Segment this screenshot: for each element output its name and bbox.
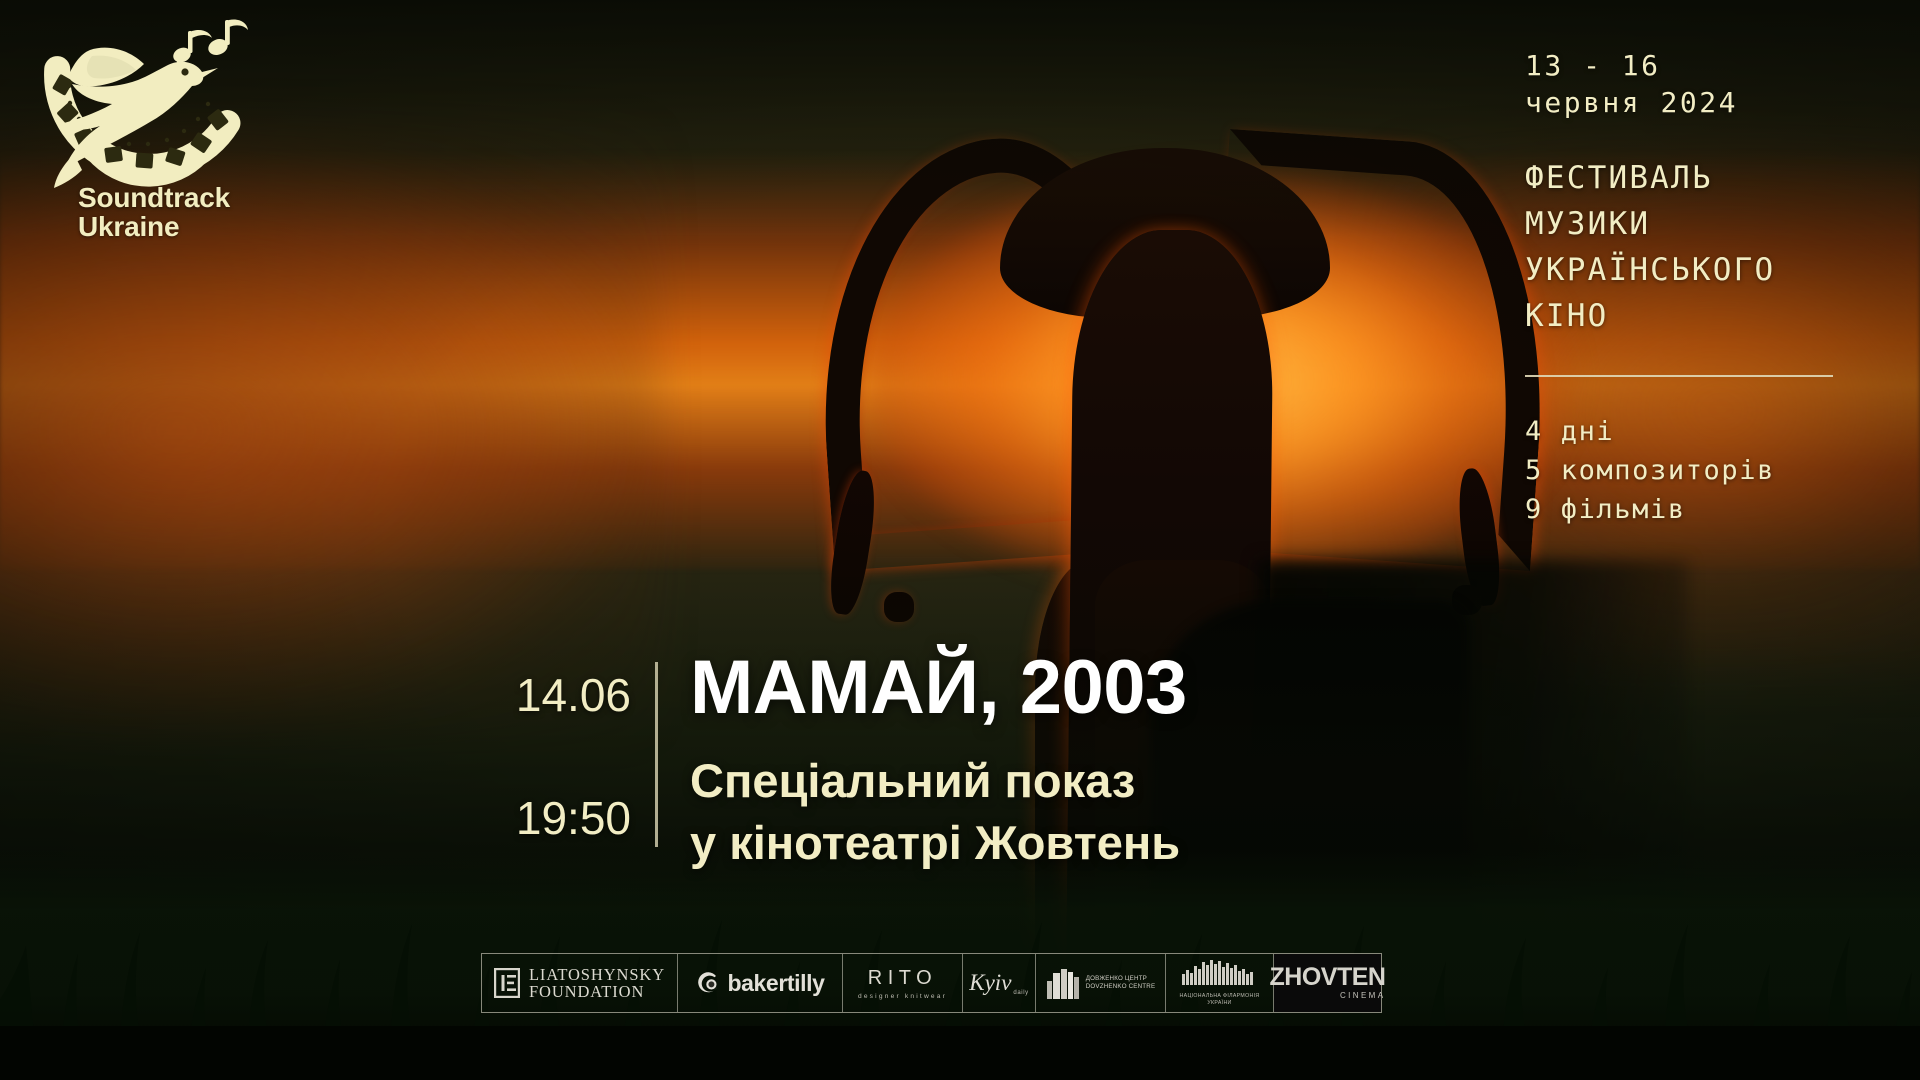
dovzhenko-books-icon <box>1046 966 1080 1000</box>
sponsor-rito-name: RITO <box>858 967 947 990</box>
info-divider <box>1525 375 1833 377</box>
soundtrack-ukraine-logo[interactable]: Soundtrack Ukraine <box>30 14 260 264</box>
date-month-year: червня 2024 <box>1525 85 1895 122</box>
sponsor-philharmonic-line-2: УКРАЇНИ <box>1180 1000 1260 1007</box>
sponsor-liatoshynsky-line-2: FOUNDATION <box>529 983 665 1000</box>
festival-title-line-2: МУЗИКИ <box>1525 202 1895 248</box>
festival-info-block: 13 - 16 червня 2024 ФЕСТИВАЛЬ МУЗИКИ УКР… <box>1525 48 1895 530</box>
stat-films: 9 фільмів <box>1525 491 1895 530</box>
festival-title-line-1: ФЕСТИВАЛЬ <box>1525 156 1895 202</box>
logo-wordmark: Soundtrack Ukraine <box>78 184 278 241</box>
sponsor-rito[interactable]: RITO designer knitwear <box>843 954 963 1012</box>
sponsor-bakertilly-name: bakertilly <box>728 970 825 997</box>
sponsor-dovzhenko-centre[interactable]: ДОВЖЕНКО ЦЕНТР DOVZHENKO CENTRE <box>1036 954 1166 1012</box>
sponsor-liatoshynsky-line-1: LIATOSHYNSKY <box>529 966 665 983</box>
festival-dates: 13 - 16 червня 2024 <box>1525 48 1895 122</box>
sponsor-bakertilly[interactable]: bakertilly <box>678 954 843 1012</box>
screening-what: МАМАЙ, 2003 Спеціальний показ у кінотеат… <box>658 650 1187 874</box>
sponsor-zhovten-name: ZHOVTEN <box>1270 966 1386 990</box>
liatoshynsky-monogram-icon <box>494 968 520 998</box>
sponsor-bar: LIATOSHYNSKY FOUNDATION bakertilly RITO … <box>481 953 1382 1013</box>
date-range: 13 - 16 <box>1525 48 1895 85</box>
film-subtitle-line-2: у кінотеатрі Жовтень <box>690 812 1187 874</box>
sponsor-zhovten-cinema[interactable]: ZHOVTEN CINEMA <box>1274 954 1381 1012</box>
film-title: МАМАЙ, 2003 <box>690 650 1187 726</box>
sponsor-rito-tagline: designer knitwear <box>858 993 947 1000</box>
festival-stats: 4 дні 5 композиторів 9 фільмів <box>1525 413 1895 530</box>
sponsor-dovzhenko-name-en: DOVZHENKO CENTRE <box>1086 983 1156 991</box>
screening-time: 19:50 <box>470 795 631 841</box>
festival-title-line-4: КІНО <box>1525 294 1895 340</box>
screening-when: 14.06 19:50 <box>470 650 655 874</box>
sponsor-national-philharmonic[interactable]: НАЦІОНАЛЬНА ФІЛАРМОНІЯ УКРАЇНИ <box>1166 954 1274 1012</box>
screening-block: 14.06 19:50 МАМАЙ, 2003 Спеціальний пока… <box>470 650 1187 874</box>
sponsor-zhovten-tagline: CINEMA <box>1270 991 1386 1000</box>
stat-days: 4 дні <box>1525 413 1895 452</box>
film-subtitle: Спеціальний показ у кінотеатрі Жовтень <box>690 750 1187 874</box>
festival-title: ФЕСТИВАЛЬ МУЗИКИ УКРАЇНСЬКОГО КІНО <box>1525 156 1895 340</box>
sponsor-philharmonic-line-1: НАЦІОНАЛЬНА ФІЛАРМОНІЯ <box>1180 993 1260 1000</box>
sponsor-liatoshynsky-foundation[interactable]: LIATOSHYNSKY FOUNDATION <box>482 954 678 1012</box>
festival-poster: Soundtrack Ukraine 13 - 16 червня 2024 Ф… <box>0 0 1920 1080</box>
logo-line-1: Soundtrack <box>78 182 230 213</box>
sponsor-kyiv-tagline: daily <box>1013 990 1028 996</box>
sponsor-dovzhenko-name-uk: ДОВЖЕНКО ЦЕНТР <box>1086 975 1156 983</box>
logo-line-2: Ukraine <box>78 211 179 242</box>
sponsor-kyiv-name: Kyiv <box>969 970 1011 996</box>
bakertilly-spiral-icon <box>696 971 720 995</box>
festival-title-line-3: УКРАЇНСЬКОГО <box>1525 248 1895 294</box>
philharmonic-organ-icon <box>1180 959 1254 985</box>
film-subtitle-line-1: Спеціальний показ <box>690 750 1187 812</box>
stat-composers: 5 композиторів <box>1525 452 1895 491</box>
screening-vertical-divider <box>655 662 658 847</box>
sponsor-kyiv-daily[interactable]: Kyiv daily <box>963 954 1036 1012</box>
screening-date: 14.06 <box>470 672 631 718</box>
bird-filmstrip-music-icon <box>30 14 260 199</box>
